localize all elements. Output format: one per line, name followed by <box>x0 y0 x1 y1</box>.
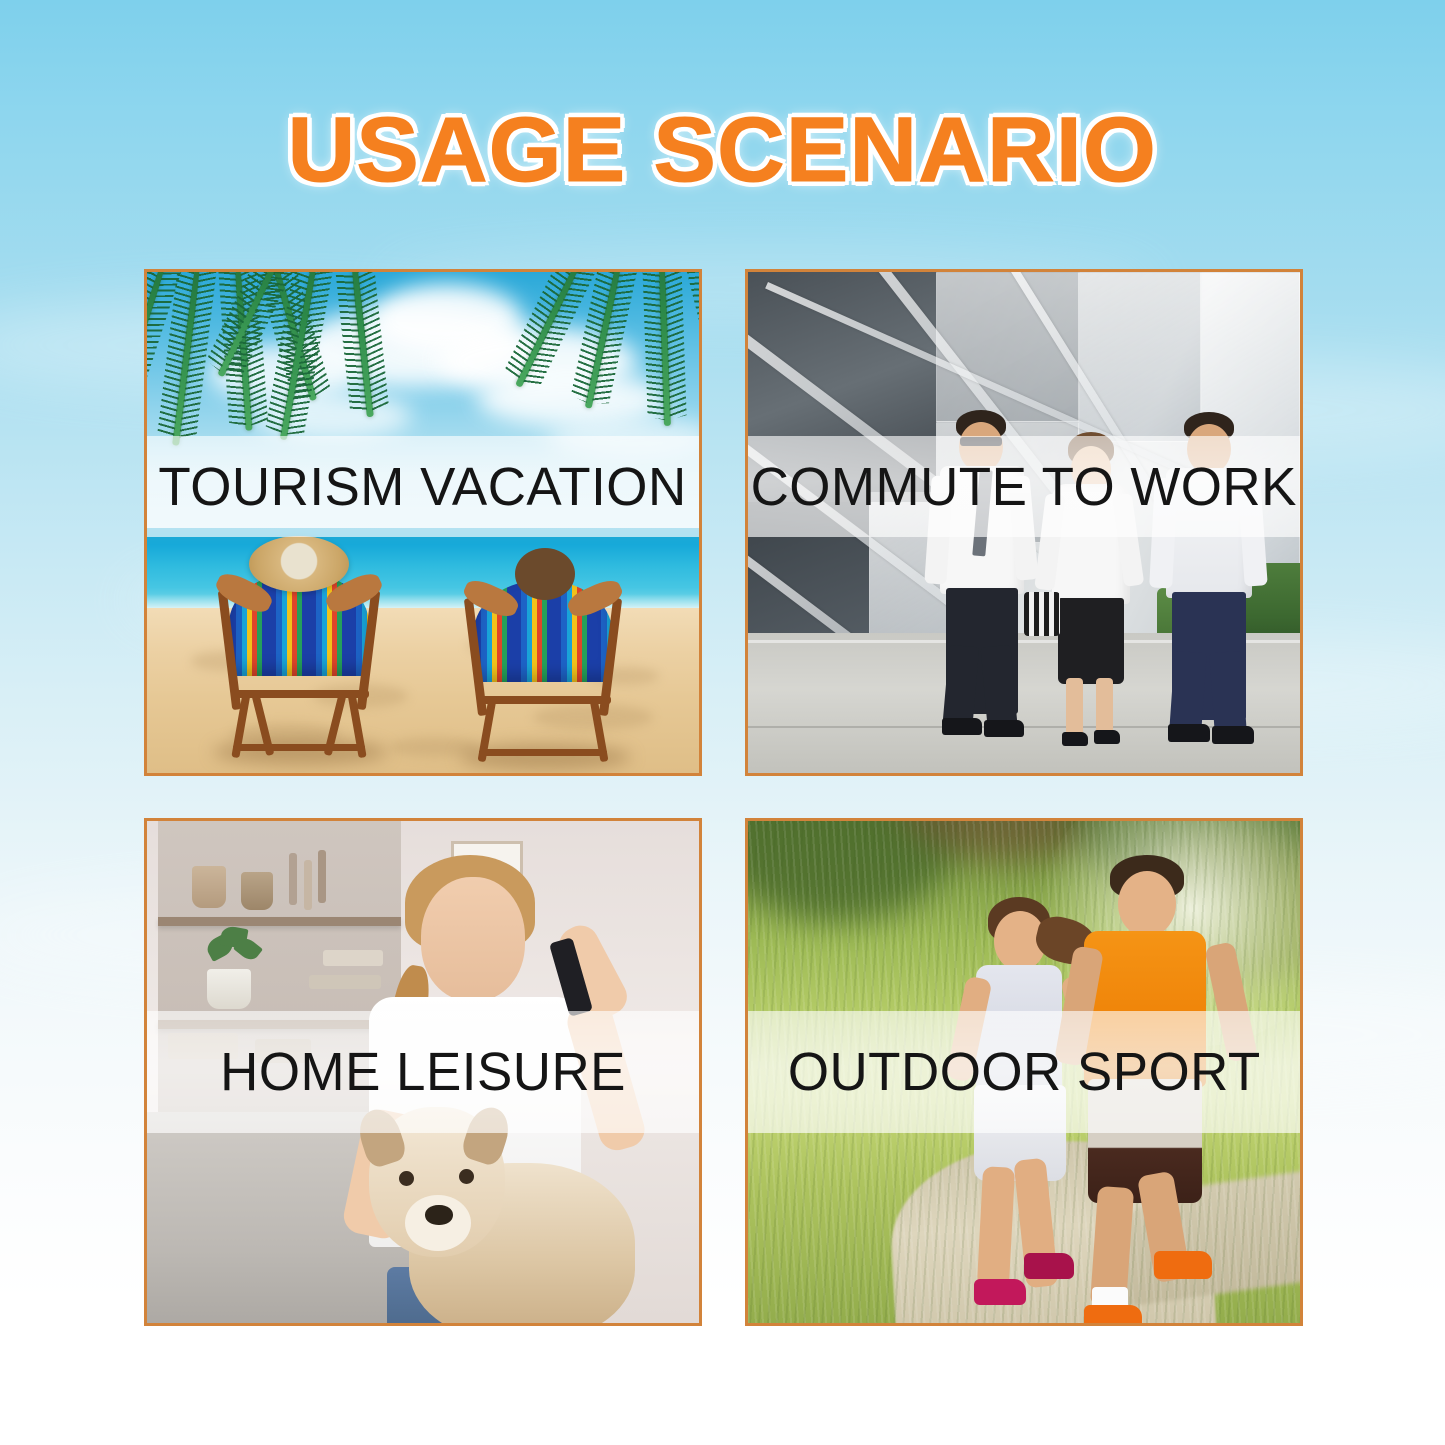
sun-hat <box>249 536 349 592</box>
plant-pot <box>207 969 251 1009</box>
running-shoe <box>1154 1251 1212 1279</box>
running-shoe <box>1084 1305 1142 1323</box>
usage-scenario-page: USAGE SCENARIO <box>0 0 1445 1445</box>
handbag <box>1024 592 1060 636</box>
woman-face <box>421 877 525 1001</box>
deck-chair-left <box>219 572 379 757</box>
card-label-commute-to-work: COMMUTE TO WORK <box>751 460 1297 514</box>
scenario-card-outdoor-sport[interactable]: OUTDOOR SPORT <box>745 818 1303 1326</box>
page-title: USAGE SCENARIO <box>288 104 1157 196</box>
card-label-band: TOURISM VACATION <box>147 436 699 537</box>
card-label-band: OUTDOOR SPORT <box>748 1011 1300 1133</box>
scenario-card-home-leisure[interactable]: HOME LEISURE <box>144 818 702 1326</box>
page-title-container: USAGE SCENARIO <box>0 104 1445 196</box>
scenario-card-grid: TOURISM VACATION <box>144 269 1303 1326</box>
card-label-band: HOME LEISURE <box>147 1011 699 1133</box>
running-shoe <box>974 1279 1026 1305</box>
card-label-home-leisure: HOME LEISURE <box>220 1045 626 1099</box>
dog <box>363 1107 643 1323</box>
scenario-card-commute-to-work[interactable]: COMMUTE TO WORK <box>745 269 1303 776</box>
card-label-tourism-vacation: TOURISM VACATION <box>159 460 687 514</box>
deck-chair-right <box>465 580 621 762</box>
person-head <box>515 548 575 600</box>
card-label-band: COMMUTE TO WORK <box>748 436 1300 537</box>
scenario-card-tourism-vacation[interactable]: TOURISM VACATION <box>144 269 702 776</box>
card-label-outdoor-sport: OUTDOOR SPORT <box>788 1045 1261 1099</box>
